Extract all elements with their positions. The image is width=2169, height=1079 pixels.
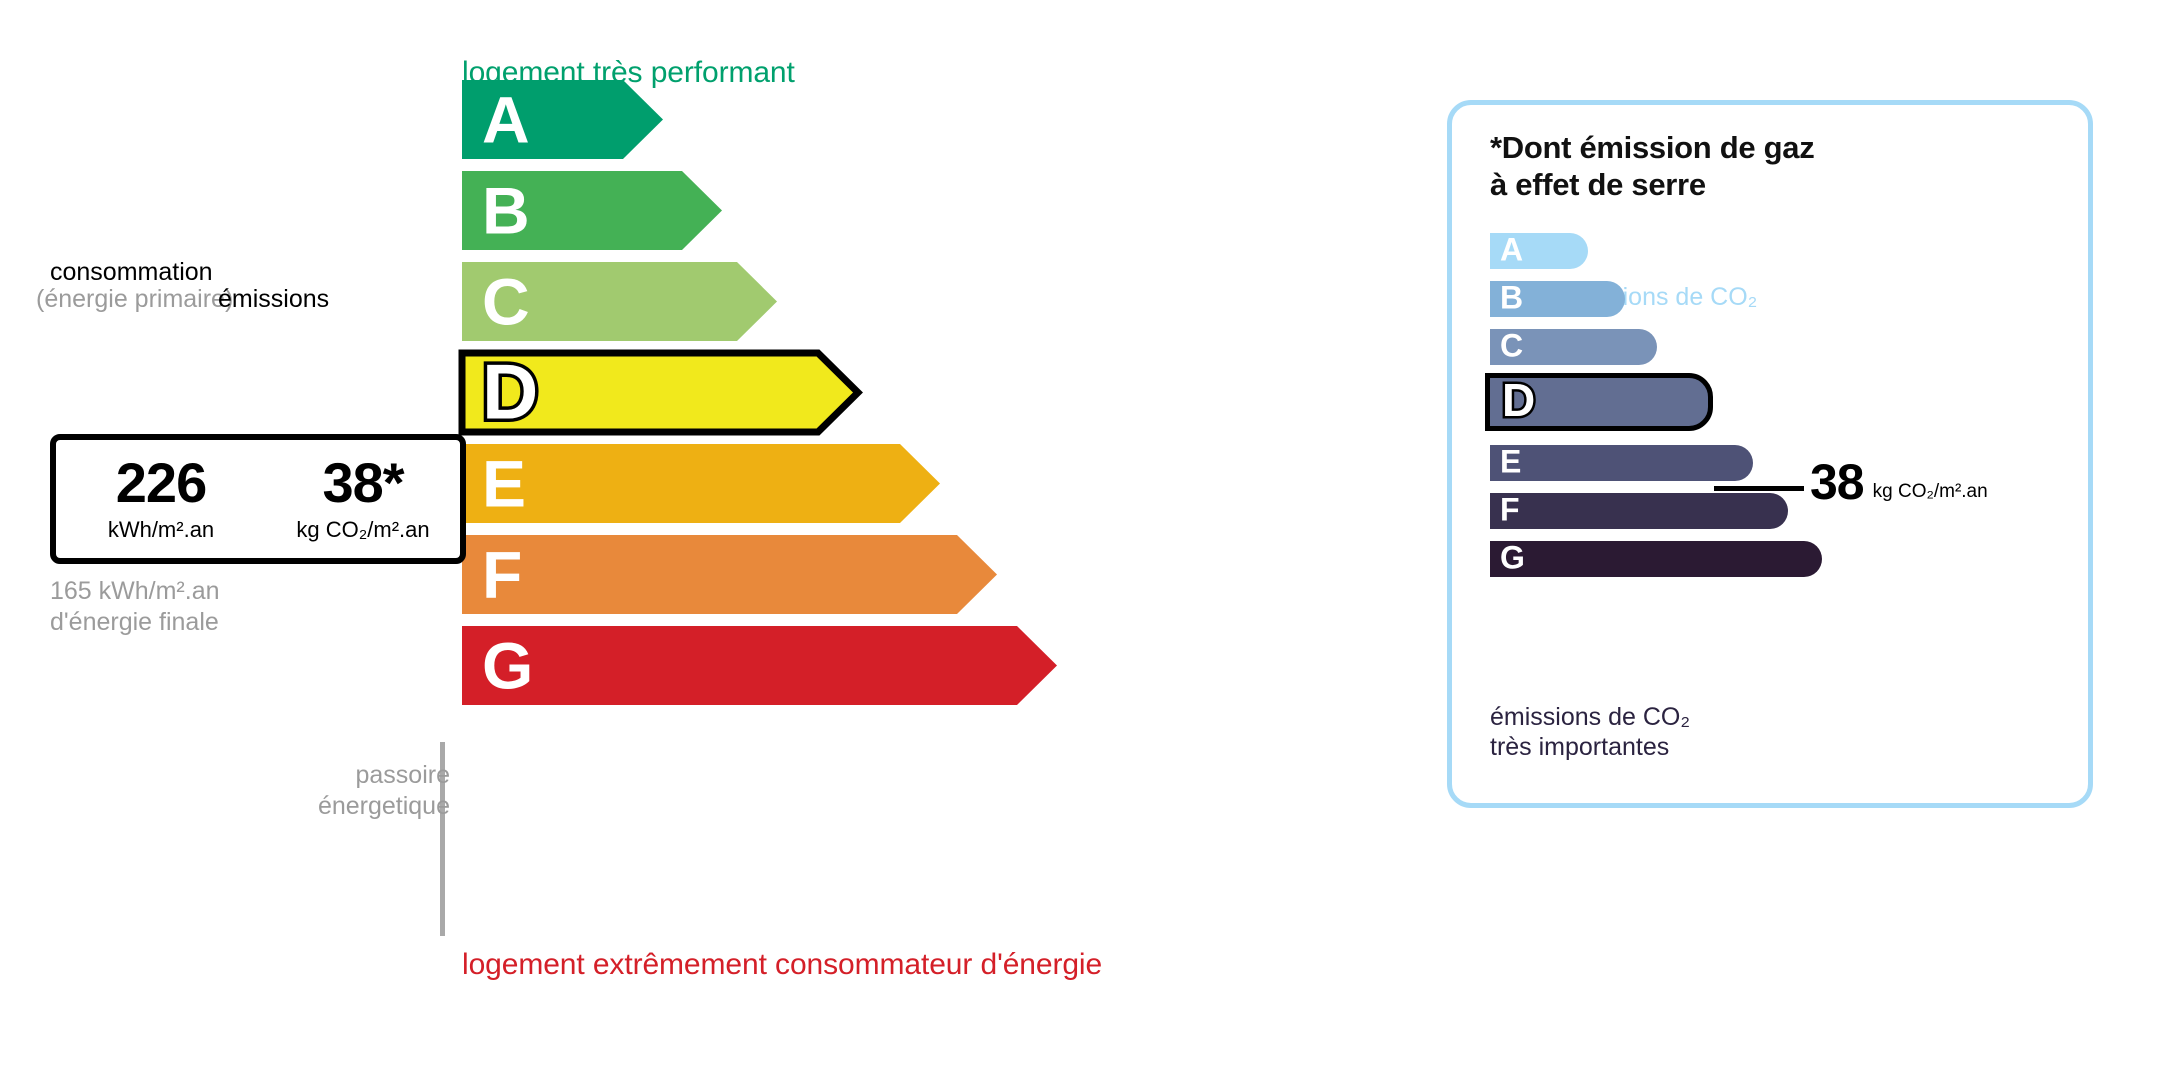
- energy-band-f: F: [462, 535, 997, 614]
- co2-bar-b: B: [1490, 281, 1625, 317]
- energy-band-a: A: [462, 80, 663, 159]
- co2-bar-letter-d: D: [1502, 377, 1535, 423]
- energy-band-letter-f: F: [482, 538, 522, 612]
- co2-bottom-caption: émissions de CO₂ très importantes: [1490, 702, 1690, 762]
- co2-bar-letter-b: B: [1500, 282, 1523, 314]
- dpe-energy-label: logement très performant ABCDEFG consomm…: [0, 0, 2169, 1079]
- co2-title-line1: *Dont émission de gaz: [1490, 130, 1814, 167]
- co2-bar-letter-f: F: [1500, 494, 1520, 526]
- co2-leader-line: [1714, 486, 1804, 491]
- energy-band-letter-c: C: [482, 265, 530, 339]
- energy-band-letter-g: G: [482, 629, 533, 703]
- energy-band-e: E: [462, 444, 940, 523]
- energy-band-letter-d: D: [482, 348, 538, 436]
- energy-band-letter-e: E: [482, 447, 526, 521]
- consumption-unit: kWh/m².an: [108, 517, 214, 543]
- final-energy-line2: d'énergie finale: [50, 607, 220, 638]
- consumption-label: consommation: [50, 258, 213, 287]
- co2-bar-letter-g: G: [1500, 542, 1525, 574]
- co2-callout-value: 38: [1810, 457, 1864, 507]
- final-energy-line1: 165 kWh/m².an: [50, 576, 220, 607]
- co2-panel-title: *Dont émission de gaz à effet de serre: [1490, 130, 1814, 203]
- co2-title-line2: à effet de serre: [1490, 167, 1814, 204]
- energy-class-chart: logement très performant ABCDEFG consomm…: [0, 0, 1400, 1079]
- energy-band-shape-e: [462, 444, 940, 523]
- energy-bottom-caption: logement extrêmement consommateur d'éner…: [462, 948, 1102, 982]
- co2-bar-a: A: [1490, 233, 1588, 269]
- co2-bar-g: G: [1490, 541, 1822, 577]
- co2-bar-letter-a: A: [1500, 234, 1523, 266]
- co2-callout: 38 kg CO₂/m².an: [1810, 457, 1988, 507]
- energy-band-letter-b: B: [482, 174, 530, 248]
- passoire-line1: passoire: [270, 760, 450, 791]
- energy-band-b: B: [462, 171, 722, 250]
- co2-panel: *Dont émission de gaz à effet de serre p…: [1447, 100, 2093, 808]
- energy-band-g: G: [462, 626, 1057, 705]
- co2-callout-unit: kg CO₂/m².an: [1873, 481, 1988, 503]
- energy-band-c: C: [462, 262, 777, 341]
- co2-bar-d: D: [1485, 373, 1713, 431]
- co2-bar-letter-e: E: [1500, 446, 1521, 478]
- co2-bar-letter-c: C: [1500, 330, 1523, 362]
- energy-band-shape-g: [462, 626, 1057, 705]
- co2-bar-e: E: [1490, 445, 1753, 481]
- co2-bottom-line2: très importantes: [1490, 732, 1690, 762]
- consumption-cell: 226 kWh/m².an: [56, 440, 266, 558]
- final-energy-note: 165 kWh/m².an d'énergie finale: [50, 576, 220, 637]
- emissions-unit: kg CO₂/m².an: [296, 517, 429, 543]
- co2-bar-c: C: [1490, 329, 1657, 365]
- passoire-note: passoire énergetique: [270, 760, 450, 821]
- passoire-line2: énergetique: [270, 791, 450, 822]
- co2-bottom-line1: émissions de CO₂: [1490, 702, 1690, 732]
- consumption-value: 226: [116, 455, 206, 511]
- energy-band-d: D: [462, 348, 858, 436]
- energy-band-letter-a: A: [482, 83, 530, 157]
- energy-band-shape-f: [462, 535, 997, 614]
- value-box: 226 kWh/m².an 38* kg CO₂/m².an: [50, 434, 466, 564]
- consumption-sublabel: (énergie primaire): [36, 285, 233, 314]
- co2-bar-f: F: [1490, 493, 1788, 529]
- emissions-cell: 38* kg CO₂/m².an: [266, 440, 460, 558]
- emissions-value: 38*: [322, 455, 403, 511]
- emissions-label: émissions: [218, 285, 329, 314]
